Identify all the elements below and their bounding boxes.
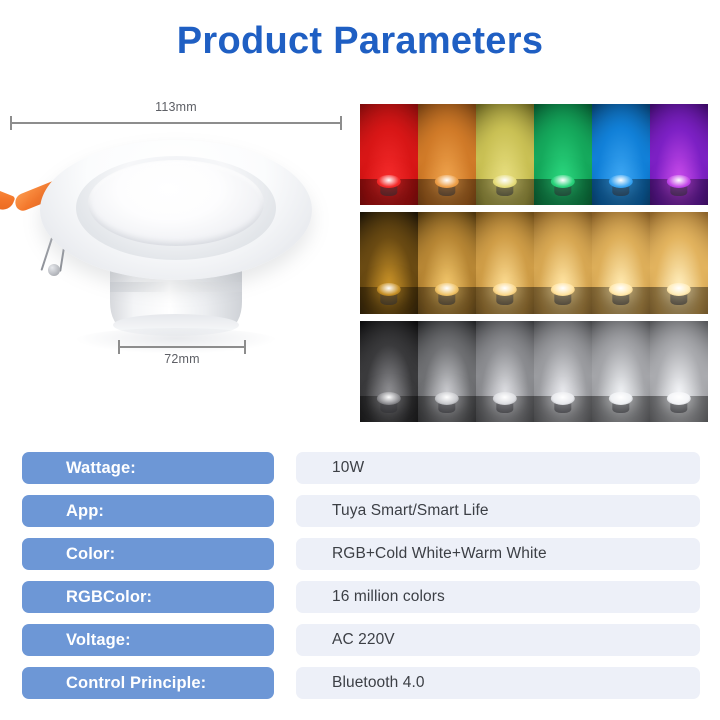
parameter-row: RGBColor:16 million colors bbox=[0, 581, 720, 624]
cold-white-level-6 bbox=[650, 321, 708, 422]
cold-white-level-4 bbox=[534, 321, 592, 422]
parameter-value: RGB+Cold White+Warm White bbox=[296, 538, 700, 570]
clip-arm bbox=[0, 180, 16, 213]
housing-seam bbox=[110, 282, 242, 292]
lighting-mode-gallery bbox=[360, 104, 708, 422]
parameter-row: Color:RGB+Cold White+Warm White bbox=[0, 538, 720, 581]
width-dimension-line bbox=[10, 122, 342, 124]
warm-white-level-2 bbox=[418, 212, 476, 313]
parameter-value: Tuya Smart/Smart Life bbox=[296, 495, 700, 527]
swatch-orange bbox=[418, 104, 476, 205]
parameter-row: Control Principle:Bluetooth 4.0 bbox=[0, 667, 720, 710]
parameter-value: 16 million colors bbox=[296, 581, 700, 613]
warm-white-level-1 bbox=[360, 212, 418, 313]
warm-white-level-4 bbox=[534, 212, 592, 313]
base-dimension-line bbox=[118, 346, 246, 348]
warm-white-level-3 bbox=[476, 212, 534, 313]
warm-white-row bbox=[360, 212, 708, 313]
diffuser-lens bbox=[88, 160, 264, 246]
parameter-value: AC 220V bbox=[296, 624, 700, 656]
product-showcase-section: 113mm bbox=[0, 96, 720, 432]
cold-white-level-2 bbox=[418, 321, 476, 422]
page-title-bar: Product Parameters bbox=[0, 18, 720, 64]
parameters-table: Wattage:10WApp:Tuya Smart/Smart LifeColo… bbox=[0, 452, 720, 710]
clip-foot bbox=[48, 264, 60, 276]
product-photo-panel: 113mm bbox=[0, 96, 352, 396]
parameter-label: Voltage: bbox=[22, 624, 274, 656]
base-dimension-label: 72mm bbox=[118, 352, 246, 366]
swatch-blue bbox=[592, 104, 650, 205]
cold-white-level-3 bbox=[476, 321, 534, 422]
width-dimension-label: 113mm bbox=[0, 100, 352, 114]
parameter-label: Color: bbox=[22, 538, 274, 570]
surface-reflection bbox=[74, 328, 278, 354]
warm-white-level-5 bbox=[592, 212, 650, 313]
warm-white-level-6 bbox=[650, 212, 708, 313]
swatch-green bbox=[534, 104, 592, 205]
parameter-row: Wattage:10W bbox=[0, 452, 720, 495]
parameter-row: App:Tuya Smart/Smart Life bbox=[0, 495, 720, 538]
parameter-value: Bluetooth 4.0 bbox=[296, 667, 700, 699]
rgb-colors-row bbox=[360, 104, 708, 205]
cold-white-row bbox=[360, 321, 708, 422]
product-parameters-page: Product Parameters 113mm bbox=[0, 0, 720, 720]
downlight-illustration bbox=[14, 132, 338, 344]
parameter-label: App: bbox=[22, 495, 274, 527]
parameter-label: RGBColor: bbox=[22, 581, 274, 613]
swatch-purple bbox=[650, 104, 708, 205]
parameter-label: Wattage: bbox=[22, 452, 274, 484]
parameter-row: Voltage:AC 220V bbox=[0, 624, 720, 667]
parameter-label: Control Principle: bbox=[22, 667, 274, 699]
page-title: Product Parameters bbox=[0, 18, 720, 64]
swatch-red bbox=[360, 104, 418, 205]
cold-white-level-5 bbox=[592, 321, 650, 422]
parameter-value: 10W bbox=[296, 452, 700, 484]
swatch-yellow bbox=[476, 104, 534, 205]
cold-white-level-1 bbox=[360, 321, 418, 422]
